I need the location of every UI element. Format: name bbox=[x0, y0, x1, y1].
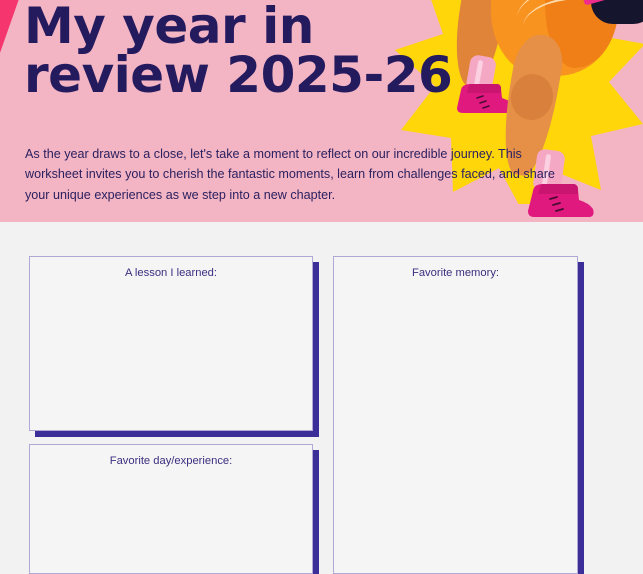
worksheet-box-label: Favorite day/experience: bbox=[30, 445, 312, 467]
worksheet-area: A lesson I learned: Favorite day/experie… bbox=[0, 222, 643, 482]
page-title: My year in review 2025-26 bbox=[24, 2, 452, 100]
worksheet-box-favorite-day[interactable]: Favorite day/experience: bbox=[29, 444, 313, 574]
worksheet-box-lesson[interactable]: A lesson I learned: bbox=[29, 256, 313, 431]
intro-paragraph: As the year draws to a close, let's take… bbox=[25, 144, 573, 205]
page-header: My year in review 2025-26 As the year dr… bbox=[0, 0, 643, 222]
triangle-accent-icon bbox=[0, 0, 20, 70]
worksheet-box-label: A lesson I learned: bbox=[30, 257, 312, 279]
worksheet-box-label: Favorite memory: bbox=[334, 257, 577, 279]
worksheet-box-favorite-memory[interactable]: Favorite memory: bbox=[333, 256, 578, 574]
